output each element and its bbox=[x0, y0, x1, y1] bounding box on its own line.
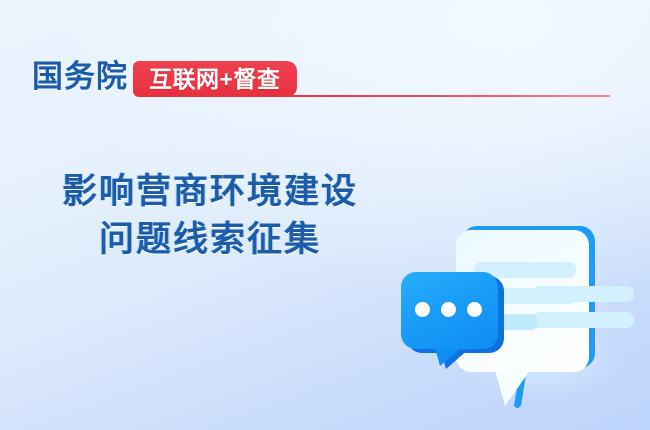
gov-council-label: 国务院 bbox=[32, 58, 128, 96]
message-text-bar bbox=[532, 312, 634, 328]
header-divider-rule bbox=[283, 95, 610, 97]
internet-plus-supervision-badge: 互联网+督查 bbox=[133, 61, 297, 97]
message-bubble-large-tail bbox=[494, 366, 533, 406]
typing-dot bbox=[441, 302, 456, 317]
banner-poster: 国务院 互联网+督查 影响营商环境建设 问题线索征集 bbox=[0, 0, 650, 430]
typing-dot bbox=[415, 302, 430, 317]
page-title: 影响营商环境建设 问题线索征集 bbox=[0, 168, 420, 264]
page-title-line-2: 问题线索征集 bbox=[0, 216, 420, 264]
page-title-line-1: 影响营商环境建设 bbox=[0, 168, 420, 216]
speech-bubbles-illustration bbox=[398, 206, 646, 406]
typing-dot bbox=[467, 302, 482, 317]
header: 国务院 互联网+督查 bbox=[0, 0, 650, 115]
